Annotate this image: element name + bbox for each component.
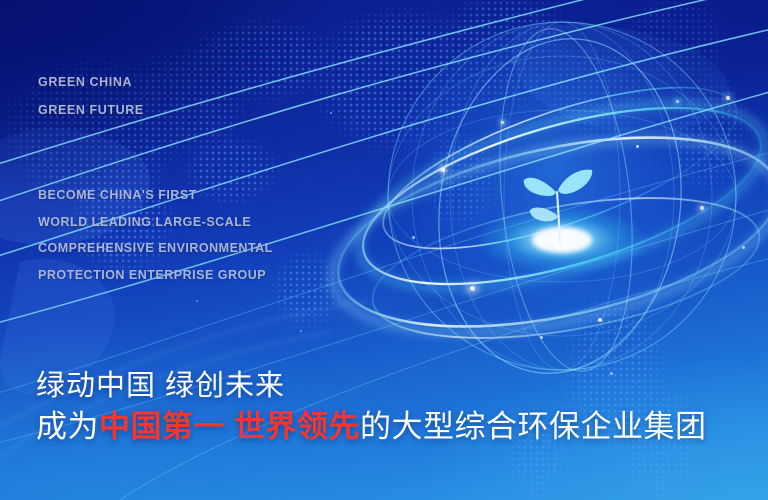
headline-accent-first: 中国第一 (99, 409, 225, 444)
mission-line: BECOME CHINA'S FIRST (38, 182, 273, 209)
headline-accent-second: 世界领先 (234, 409, 360, 444)
mission-english-block: BECOME CHINA'S FIRST WORLD LEADING LARGE… (38, 182, 273, 288)
tagline-line: GREEN FUTURE (38, 96, 144, 124)
tagline-english-top: GREEN CHINA GREEN FUTURE (38, 68, 144, 124)
mission-line: PROTECTION ENTERPRISE GROUP (38, 262, 273, 289)
mission-line: WORLD LEADING LARGE-SCALE (38, 209, 273, 236)
mission-line: COMPREHENSIVE ENVIRONMENTAL (38, 235, 273, 262)
headline-chinese: 绿动中国 绿创未来 成为中国第一世界领先的大型综合环保企业集团 (36, 366, 707, 448)
headline-prefix: 成为 (36, 409, 99, 444)
headline-line-2: 成为中国第一世界领先的大型综合环保企业集团 (36, 406, 707, 448)
headline-line-1: 绿动中国 绿创未来 (36, 366, 707, 406)
tagline-line: GREEN CHINA (38, 68, 144, 96)
headline-suffix: 的大型综合环保企业集团 (360, 409, 707, 444)
hero-banner: GREEN CHINA GREEN FUTURE BECOME CHINA'S … (0, 0, 768, 500)
